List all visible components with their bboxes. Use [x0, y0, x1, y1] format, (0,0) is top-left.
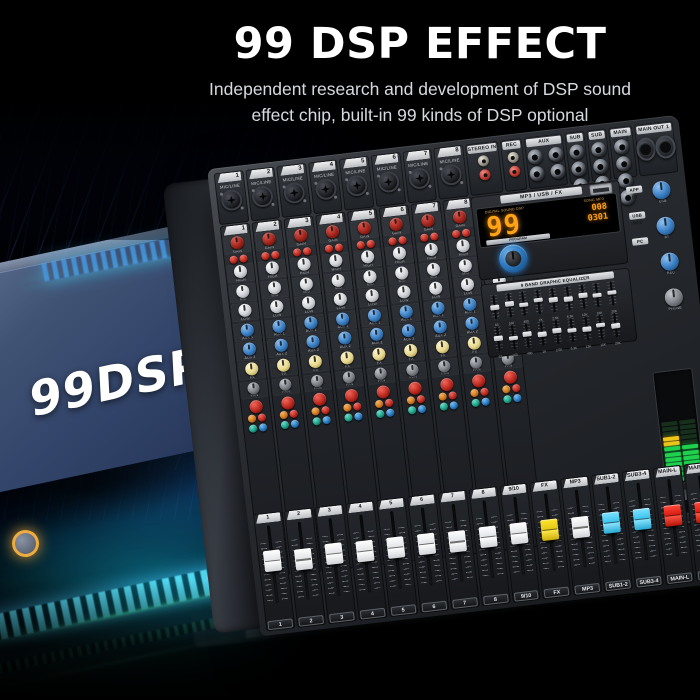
fader-top-label: 9/10 [501, 484, 527, 496]
channel-number-tab: 1 [217, 171, 242, 183]
led-indicator [356, 240, 365, 249]
top-channel-6: 6MIC/LINE [370, 152, 405, 207]
knob-low[interactable] [460, 278, 474, 292]
fader-cap[interactable] [356, 539, 375, 562]
solo-button[interactable] [512, 384, 521, 393]
pfl-button[interactable] [279, 411, 288, 420]
fader-top-label: 3 [317, 505, 343, 517]
fader-bottom-label: 3 [329, 611, 355, 623]
fader-cap[interactable] [509, 522, 528, 545]
section-label: SUB [567, 132, 584, 142]
strip-bus-row [306, 415, 337, 426]
knob-low[interactable] [428, 281, 442, 295]
knob-fx[interactable] [435, 340, 449, 354]
fader-top-label: 8 [470, 487, 496, 499]
program-encoder-knob[interactable] [498, 243, 529, 274]
fader-top-label: MAIN-L [655, 466, 681, 478]
fader-cap[interactable] [479, 525, 498, 548]
connector-section-main-out-2: MAIN OUT 2 [608, 125, 637, 179]
pfl-button[interactable] [248, 415, 257, 424]
fader-bottom-label: 6 [421, 600, 447, 612]
knob-mid[interactable] [330, 273, 344, 287]
graphic-equalizer-panel: 9 BAND GRAPHIC EQUALIZER 631604001K2.5K6… [480, 267, 638, 358]
lr-assign-button[interactable] [513, 393, 522, 402]
fader-top-label: MP3 [562, 477, 588, 489]
lr-assign-button[interactable] [354, 412, 363, 421]
right-knob-wrap-phone: PHONE [658, 287, 690, 312]
fader-top-label: SUB1-2 [593, 473, 619, 485]
mute-button[interactable] [407, 381, 421, 395]
fader-bottom-label: 8 [482, 593, 508, 605]
right-knob-wrap-bt: BT [650, 215, 682, 240]
led-indicator [324, 244, 333, 253]
led-indicator [452, 229, 461, 238]
led-indicator [398, 235, 407, 244]
lr-assign-button[interactable] [322, 415, 331, 424]
fader-bottom-label: MP3 [575, 582, 601, 594]
top-channel-3: 3MIC/LINE [276, 163, 311, 218]
knob-mid[interactable] [299, 277, 313, 291]
fader-cap[interactable] [294, 548, 313, 571]
knob-low[interactable] [333, 292, 347, 306]
eq-band-20K[interactable]: 20K [607, 311, 624, 340]
fader-bottom-label: 1 [267, 618, 293, 630]
combo-xlr-jack[interactable] [220, 189, 243, 212]
led-indicator [420, 233, 429, 242]
solo-button[interactable] [416, 395, 425, 404]
section-label: REC OUT [502, 140, 521, 150]
audio-mixer-product: 1MIC/LINE2MIC/LINE3MIC/LINE4MIC/LINE5MIC… [188, 165, 700, 665]
fader-cap[interactable] [663, 504, 682, 527]
channel-number-tab: 3 [279, 164, 304, 176]
knob-usb[interactable] [651, 180, 671, 200]
fader-cap[interactable] [571, 516, 590, 539]
led-indicator [462, 228, 471, 237]
sub-assign-button[interactable] [408, 406, 417, 415]
lr-assign-button[interactable] [259, 423, 268, 432]
mute-button[interactable] [439, 377, 453, 391]
trs-jack[interactable] [529, 166, 546, 183]
mute-button[interactable] [344, 388, 358, 402]
knob-low[interactable] [396, 285, 410, 299]
knob-low[interactable] [237, 303, 251, 317]
knob-fx[interactable] [244, 362, 258, 376]
fader-top-label: 2 [286, 509, 312, 521]
pfl-button[interactable] [407, 396, 416, 405]
knob-mid[interactable] [235, 284, 249, 298]
sub-assign-button[interactable] [439, 402, 448, 411]
solo-button[interactable] [480, 388, 489, 397]
rca-jack[interactable] [477, 155, 489, 167]
solo-button[interactable] [321, 406, 330, 415]
knob-mid[interactable] [458, 258, 472, 272]
fader-bottom-label: SUB3-4 [636, 575, 662, 587]
trs-jack[interactable] [547, 146, 564, 163]
solo-button[interactable] [258, 413, 267, 422]
right-knob-wrap-usb: USB [646, 179, 678, 204]
dsp-track-readout: 008 0301 [586, 203, 609, 224]
knob-fx[interactable] [371, 347, 385, 361]
pfl-button[interactable] [311, 407, 320, 416]
led-indicator [261, 251, 270, 260]
sub-assign-button[interactable] [249, 424, 258, 433]
subtitle-line-2: effect chip, built-in 99 kinds of DSP op… [150, 103, 690, 128]
pfl-button[interactable] [470, 389, 479, 398]
channel-number-tab: 4 [311, 161, 336, 173]
top-channel-2: 2MIC/LINE [245, 166, 280, 221]
led-indicator [366, 239, 375, 248]
fader-cap[interactable] [386, 536, 405, 559]
top-channel-5: 5MIC/LINE [339, 156, 374, 211]
mute-button[interactable] [280, 396, 294, 410]
strip-bus-row [465, 396, 496, 407]
connector-section-rec-out: REC OUT [500, 138, 528, 192]
sub-assign-button[interactable] [280, 420, 289, 429]
trs-jack[interactable] [616, 155, 633, 172]
sub-assign-button[interactable] [312, 417, 321, 426]
channel-number-tab: 6 [374, 153, 399, 165]
right-label-usb-rec: USB REC [629, 211, 646, 220]
pfl-button[interactable] [343, 404, 352, 413]
knob-low[interactable] [301, 296, 315, 310]
knob-fx[interactable] [339, 351, 353, 365]
fader-bottom-label: SUB1-2 [605, 579, 631, 591]
lr-assign-button[interactable] [449, 401, 458, 410]
fader-cap[interactable] [632, 507, 651, 530]
channel-number-tab: 2 [248, 168, 273, 180]
xlr-output-jack[interactable] [655, 134, 677, 159]
xlr-output-jack[interactable] [635, 137, 657, 162]
led-indicator [229, 255, 238, 264]
mute-button[interactable] [312, 392, 326, 406]
fader-top-label: 4 [347, 501, 373, 513]
solo-button[interactable] [385, 399, 394, 408]
trs-jack[interactable] [549, 163, 566, 180]
rca-jack[interactable] [508, 165, 520, 177]
subtitle-line-1: Independent research and development of … [150, 77, 690, 102]
led-indicator [388, 237, 397, 246]
strip-bus-row [243, 422, 274, 433]
lr-assign-button[interactable] [386, 408, 395, 417]
fader-top-label: 5 [378, 498, 404, 510]
fader-bottom-label: 5 [390, 604, 416, 616]
page-title: 99 DSP EFFECT [150, 22, 690, 67]
fader-top-label: 1 [255, 512, 281, 524]
fader-top-label: 6 [409, 494, 435, 506]
lr-assign-button[interactable] [418, 404, 427, 413]
channel-number-tab: 7 [405, 150, 430, 162]
fader-top-label: 7 [439, 491, 465, 503]
fader-cap[interactable] [448, 530, 467, 553]
eq-band-20K[interactable]: 20K [604, 279, 621, 308]
fader-bottom-label: 4 [360, 607, 386, 619]
fader-bottom-label: 7 [452, 597, 478, 609]
trs-jack[interactable] [590, 141, 607, 158]
combo-xlr-jack[interactable] [377, 170, 400, 193]
trs-jack[interactable] [614, 139, 631, 156]
strip-bus-row [275, 418, 306, 429]
fader-top-label: FX [532, 480, 558, 492]
channel-number-tab: 8 [436, 146, 461, 158]
sub-assign-button[interactable] [344, 413, 353, 422]
connector-section-main-out-1: MAIN OUT 1 [633, 120, 678, 176]
mixer-faceplate: 1MIC/LINE2MIC/LINE3MIC/LINE4MIC/LINE5MIC… [207, 115, 700, 636]
led-indicator [303, 246, 312, 255]
solo-button[interactable] [448, 391, 457, 400]
dsp-display-panel: MP3 / USB / FX DIGITAL SOUND DSP SONG MP… [470, 180, 629, 281]
fader-cap[interactable] [263, 549, 282, 572]
knob-mid[interactable] [362, 269, 376, 283]
top-channel-4: 4MIC/LINE [308, 159, 343, 214]
rca-jack[interactable] [507, 151, 519, 163]
solo-button[interactable] [289, 410, 298, 419]
knob-fx[interactable] [276, 358, 290, 372]
lr-assign-button[interactable] [290, 419, 299, 428]
knob-mid[interactable] [394, 266, 408, 280]
strip-bus-row [338, 411, 369, 422]
lcd-screen: DIGITAL SOUND DSP SONG MP3 99 008 0301 P… [476, 193, 619, 247]
right-label-app-bt: APP BT [626, 185, 643, 194]
mute-button[interactable] [248, 399, 262, 413]
knob-mid[interactable] [426, 262, 440, 276]
pfl-button[interactable] [502, 385, 511, 394]
knob-fx[interactable] [467, 336, 481, 350]
top-channel-1: 1MIC/LINE [214, 170, 249, 225]
pfl-button[interactable] [438, 392, 447, 401]
right-label-pc: PC [632, 237, 649, 246]
section-label: AUX [526, 135, 562, 147]
led-indicator [239, 254, 248, 263]
trs-jack[interactable] [527, 149, 544, 166]
led-indicator [293, 248, 302, 257]
section-label: STEREO IN [467, 142, 497, 153]
fader-top-label: MAIN-R [685, 462, 700, 474]
led-indicator [334, 243, 343, 252]
knob-fx[interactable] [403, 343, 417, 357]
sub-assign-button[interactable] [376, 409, 385, 418]
channel-number-tab: 5 [342, 157, 367, 169]
knob-phone[interactable] [664, 287, 684, 307]
connector-section-aux: AUX [523, 133, 568, 189]
top-channel-8: 8MIC/LINE [433, 145, 468, 200]
track-line-2: 0301 [587, 212, 608, 224]
strip-bus-row [370, 407, 401, 418]
lr-assign-button[interactable] [481, 397, 490, 406]
page-subtitle: Independent research and development of … [150, 77, 690, 128]
rca-jack[interactable] [479, 169, 491, 181]
trs-jack[interactable] [570, 161, 587, 178]
strip-bus-row [402, 404, 433, 415]
fader-bottom-label: 2 [298, 614, 324, 626]
top-channel-7: 7MIC/LINE [402, 148, 437, 203]
mute-button[interactable] [376, 385, 390, 399]
section-label: MAIN OUT 2 [610, 127, 630, 137]
sub-assign-button[interactable] [471, 398, 480, 407]
mute-button[interactable] [471, 374, 485, 388]
strip-bus-row [433, 400, 464, 411]
right-knob-wrap-rec: REC [654, 251, 686, 276]
knob-mid[interactable] [267, 280, 281, 294]
section-label: SUB [588, 130, 605, 140]
headline-block: 99 DSP EFFECT Independent research and d… [150, 22, 690, 128]
led-indicator [430, 232, 439, 241]
fader-cap[interactable] [417, 532, 436, 555]
knob-low[interactable] [364, 289, 378, 303]
fader-top-label: SUB3-4 [624, 469, 650, 481]
led-indicator [271, 250, 280, 259]
strip-bus-row [497, 393, 528, 404]
connector-section-stereo-in: STEREO IN [465, 141, 504, 197]
solo-button[interactable] [353, 402, 362, 411]
knob-rec[interactable] [660, 252, 680, 272]
pfl-button[interactable] [375, 400, 384, 409]
mute-button[interactable] [503, 370, 517, 384]
fader-cap[interactable] [540, 518, 559, 541]
fader-cap[interactable] [325, 542, 344, 565]
fader-cap[interactable] [601, 511, 620, 534]
trs-jack[interactable] [568, 144, 585, 161]
fader-bottom-label: 9/10 [513, 589, 539, 601]
fader-bottom-label: FX [544, 586, 570, 598]
sub-assign-button[interactable] [503, 395, 512, 404]
knob-low[interactable] [269, 300, 283, 314]
trs-jack[interactable] [592, 158, 609, 175]
fader-bottom-label: MAIN-L [667, 572, 693, 584]
knob-fx[interactable] [308, 354, 322, 368]
knob-bt[interactable] [656, 216, 676, 236]
